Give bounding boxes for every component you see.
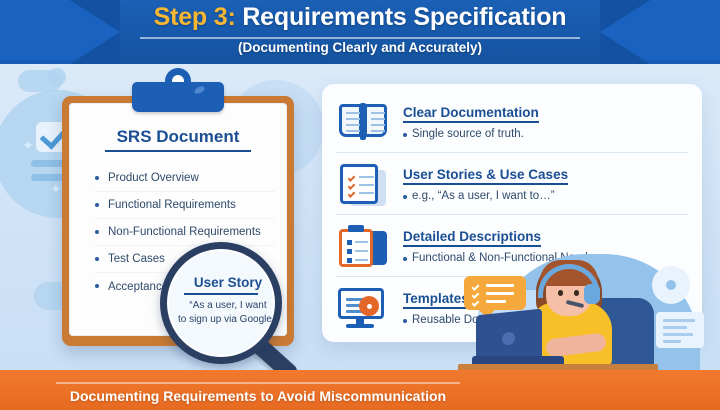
user-story-quote: “As a user, I want to sign up via Google… [176,299,280,327]
list-item-label: Product Overview [108,172,199,184]
checklist-document-icon [336,160,390,208]
workspace-illustration [470,250,720,370]
infographic-slide: Step 3: Requirements Specification (Docu… [0,0,720,410]
list-item-label: Functional Requirements [108,199,236,211]
footer-banner: Documenting Requirements to Avoid Miscom… [0,370,720,410]
feature-detail: e.g., “As a user, I want to…” [403,190,690,202]
gear-icon [362,299,376,313]
list-item-label: Non-Functional Requirements [108,226,261,238]
title-text: Step 3: Requirements Specification [154,3,567,32]
feature-separator [336,214,688,215]
feature-heading: Detailed Descriptions [403,229,541,247]
feature-heading: User Stories & Use Cases [403,167,568,185]
open-book-icon [336,98,390,146]
title-main-label: Requirements Specification [236,3,567,31]
srs-title-underline [105,150,251,152]
footer-divider [56,382,460,384]
headset-earcup [584,284,600,304]
feature-separator [336,152,688,153]
user-story-quote-line-2: to sign up via Google.” [176,313,280,327]
user-story-magnifier: User Story “As a user, I want to sign up… [160,242,288,370]
clipboard-clip [132,82,224,112]
decor-dot-top [48,68,66,86]
feature-detail-label: e.g., “As a user, I want to…” [412,190,555,202]
magnifier-lens: User Story “As a user, I want to sign up… [160,242,282,364]
bullet-icon [95,257,99,261]
clipboard-icon [336,222,390,270]
feature-heading: Clear Documentation [403,105,539,123]
srs-document-title: SRS Document [69,127,287,147]
list-item: Product Overview [95,165,275,192]
feature-text: Clear Documentation Single source of tru… [403,104,690,140]
user-story-quote-line-1: “As a user, I want [176,299,280,313]
monitor-gear-icon [336,284,390,332]
page-title: Step 3: Requirements Specification [0,3,720,32]
user-story-title: User Story [167,275,289,290]
bullet-icon [95,176,99,180]
feature-item-clear-documentation: Clear Documentation Single source of tru… [336,92,690,152]
gear-icon [658,272,684,298]
sparkle-icon-1: ✦ [22,138,34,152]
title-step-label: Step 3: [154,3,236,31]
checklist-speech-bubble-icon [464,276,526,310]
bullet-icon [403,195,407,199]
bullet-icon [95,284,99,288]
bullet-icon [403,133,407,137]
user-story-underline [184,293,258,295]
feature-detail-label: Single source of truth. [412,128,524,140]
title-underline [140,37,580,39]
feature-detail: Single source of truth. [403,128,690,140]
footer-caption: Documenting Requirements to Avoid Miscom… [56,388,460,404]
header-banner: Step 3: Requirements Specification (Docu… [0,0,720,64]
sparkle-icon-2: ✦ [50,182,62,196]
feature-item-user-stories: User Stories & Use Cases e.g., “As a use… [336,154,690,214]
bullet-icon [403,257,407,261]
document-icon [656,312,704,348]
feature-text: User Stories & Use Cases e.g., “As a use… [403,166,690,202]
bullet-icon [403,319,407,323]
list-item: Functional Requirements [95,192,275,219]
bullet-icon [95,230,99,234]
list-item-label: Test Cases [108,253,165,265]
bullet-icon [95,203,99,207]
page-subtitle: (Documenting Clearly and Accurately) [0,40,720,55]
